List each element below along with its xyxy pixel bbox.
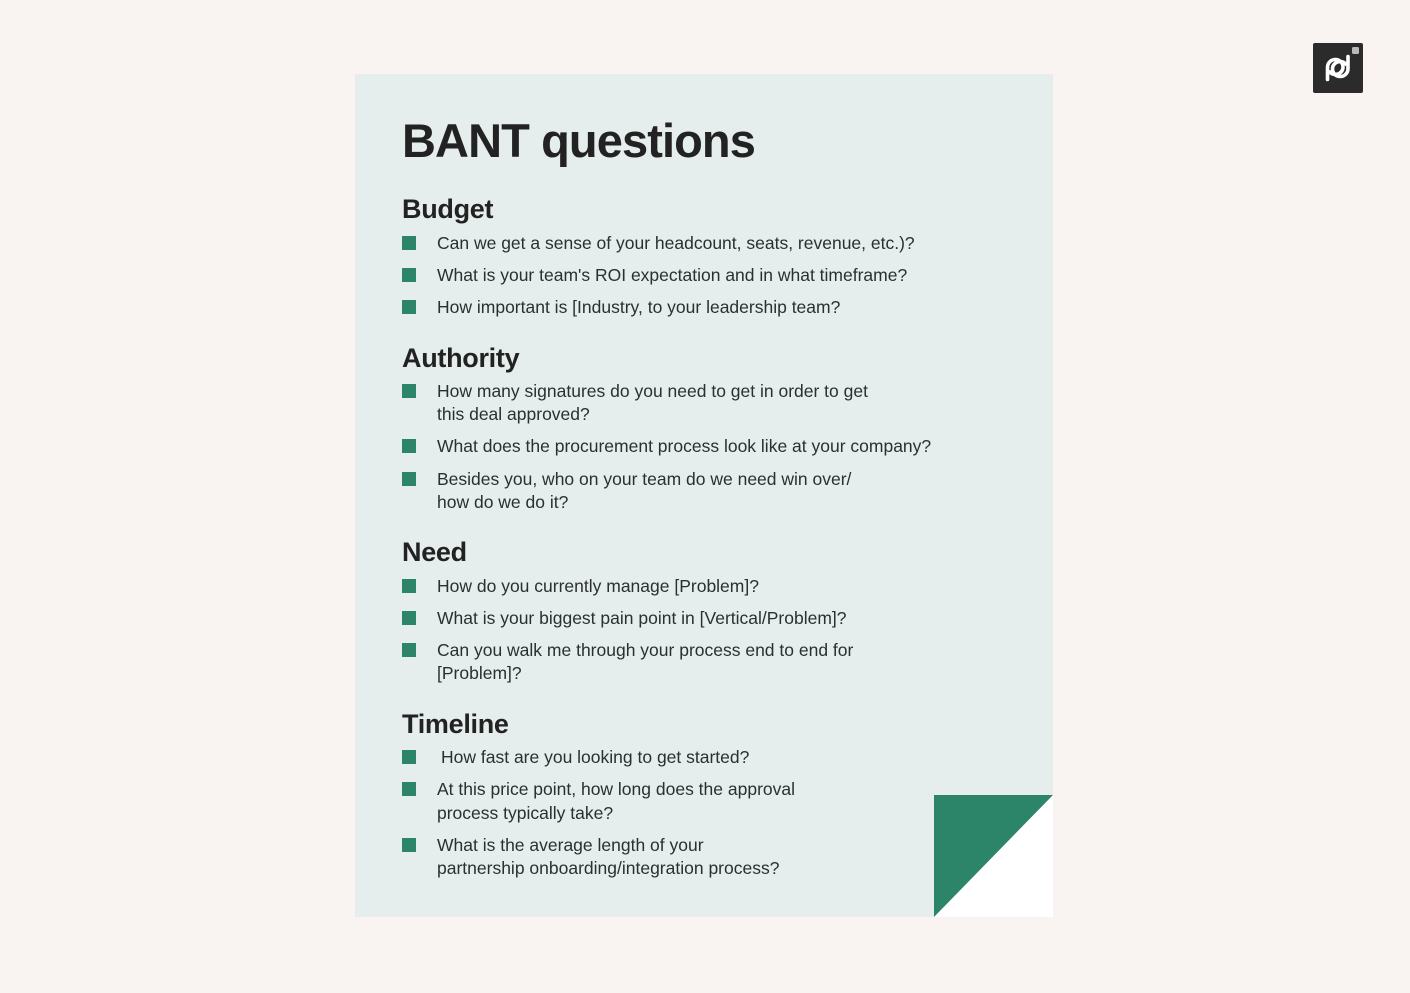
card-content: BANT questions Budget Can we get a sense… [355,74,1053,880]
list-item: Can you walk me through your process end… [402,639,1053,686]
bullet-square-icon [402,782,416,796]
section-timeline: Timeline How fast are you looking to get… [402,708,1053,881]
list-item: What is your team's ROI expectation and … [402,264,1053,287]
bullet-square-icon [402,439,416,453]
bullet-square-icon [402,472,416,486]
bullet-text: How many signatures do you need to get i… [437,380,868,427]
section-need: Need How do you currently manage [Proble… [402,536,1053,685]
list-item: What is your biggest pain point in [Vert… [402,607,1053,630]
bullet-text: Can we get a sense of your headcount, se… [437,232,915,255]
page-title: BANT questions [402,116,1053,165]
bullet-text: How fast are you looking to get started? [441,746,749,769]
bullet-square-icon [402,611,416,625]
list-item: What is the average length of your partn… [402,834,1053,881]
section-heading-budget: Budget [402,193,1053,225]
list-item: How fast are you looking to get started? [402,746,1053,769]
list-item: At this price point, how long does the a… [402,778,1053,825]
bullet-text: Besides you, who on your team do we need… [437,468,851,515]
bullet-list-timeline: How fast are you looking to get started?… [402,746,1053,880]
bullet-text: What is the average length of your partn… [437,834,779,881]
bullet-list-need: How do you currently manage [Problem]? W… [402,575,1053,686]
list-item: Can we get a sense of your headcount, se… [402,232,1053,255]
bullet-square-icon [402,300,416,314]
bullet-square-icon [402,236,416,250]
bullet-list-budget: Can we get a sense of your headcount, se… [402,232,1053,320]
bullet-square-icon [402,579,416,593]
section-authority: Authority How many signatures do you nee… [402,342,1053,515]
bullet-text: How important is [Industry, to your lead… [437,296,840,319]
bullet-text: What is your team's ROI expectation and … [437,264,907,287]
section-heading-timeline: Timeline [402,708,1053,740]
registered-mark-icon [1352,47,1359,54]
bullet-text: How do you currently manage [Problem]? [437,575,759,598]
section-budget: Budget Can we get a sense of your headco… [402,193,1053,319]
bullet-square-icon [402,268,416,282]
bullet-text: What does the procurement process look l… [437,435,931,458]
section-heading-need: Need [402,536,1053,568]
bullet-text: At this price point, how long does the a… [437,778,795,825]
list-item: How do you currently manage [Problem]? [402,575,1053,598]
bullet-list-authority: How many signatures do you need to get i… [402,380,1053,514]
list-item: How important is [Industry, to your lead… [402,296,1053,319]
list-item: Besides you, who on your team do we need… [402,468,1053,515]
bullet-text: What is your biggest pain point in [Vert… [437,607,847,630]
section-heading-authority: Authority [402,342,1053,374]
list-item: What does the procurement process look l… [402,435,1053,458]
bant-questions-card: BANT questions Budget Can we get a sense… [355,74,1053,917]
bullet-square-icon [402,750,416,764]
bullet-square-icon [402,384,416,398]
bullet-square-icon [402,838,416,852]
bullet-square-icon [402,643,416,657]
bullet-text: Can you walk me through your process end… [437,639,853,686]
list-item: How many signatures do you need to get i… [402,380,1053,427]
pandadoc-logo [1313,43,1363,93]
